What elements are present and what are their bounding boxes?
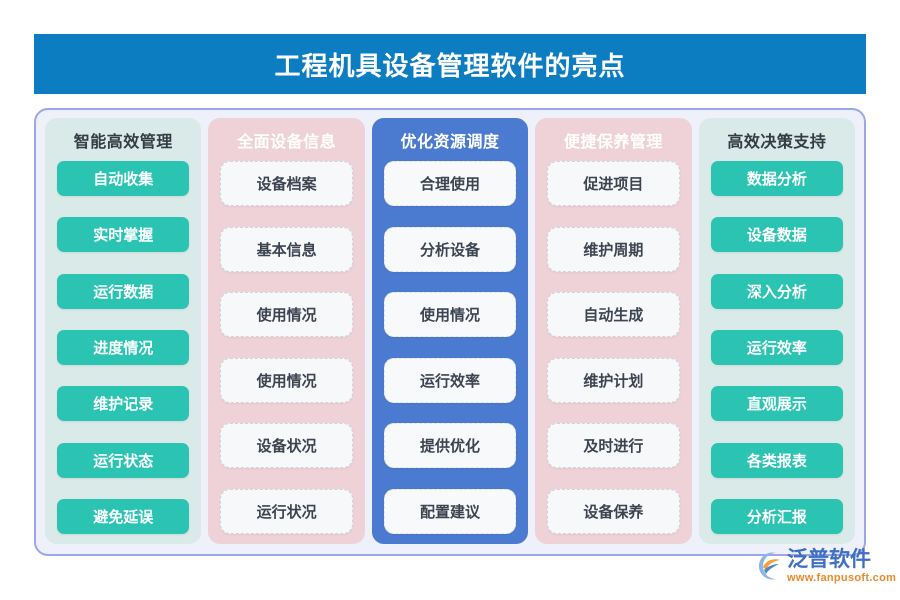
column-header-3: 优化资源调度 — [384, 128, 516, 152]
feature-pill[interactable]: 各类报表 — [711, 443, 843, 478]
column-item-list-1: 自动收集实时掌握运行数据进度情况维护记录运行状态避免延误 — [57, 161, 189, 534]
column-header-1: 智能高效管理 — [57, 128, 189, 152]
feature-pill[interactable]: 提供优化 — [384, 423, 516, 468]
feature-column-3: 优化资源调度合理使用分析设备使用情况运行效率提供优化配置建议 — [372, 118, 528, 544]
feature-pill[interactable]: 直观展示 — [711, 386, 843, 421]
feature-pill[interactable]: 设备保养 — [547, 489, 679, 534]
feature-pill[interactable]: 数据分析 — [711, 161, 843, 196]
column-header-4: 便捷保养管理 — [547, 128, 679, 152]
feature-pill[interactable]: 进度情况 — [57, 330, 189, 365]
fanpu-logo-icon — [752, 549, 786, 583]
column-item-list-2: 设备档案基本信息使用情况使用情况设备状况运行状况 — [220, 161, 352, 534]
feature-column-1: 智能高效管理自动收集实时掌握运行数据进度情况维护记录运行状态避免延误 — [45, 118, 201, 544]
feature-pill[interactable]: 运行效率 — [711, 330, 843, 365]
feature-pill[interactable]: 使用情况 — [220, 358, 352, 403]
feature-pill[interactable]: 运行状况 — [220, 489, 352, 534]
feature-pill[interactable]: 设备数据 — [711, 217, 843, 252]
feature-pill[interactable]: 促进项目 — [547, 161, 679, 206]
feature-pill[interactable]: 使用情况 — [384, 292, 516, 337]
feature-columns-frame: 智能高效管理自动收集实时掌握运行数据进度情况维护记录运行状态避免延误全面设备信息… — [34, 108, 866, 556]
feature-pill[interactable]: 设备档案 — [220, 161, 352, 206]
feature-pill[interactable]: 运行效率 — [384, 358, 516, 403]
feature-pill[interactable]: 自动生成 — [547, 292, 679, 337]
feature-pill[interactable]: 自动收集 — [57, 161, 189, 196]
feature-pill[interactable]: 使用情况 — [220, 292, 352, 337]
feature-pill[interactable]: 维护计划 — [547, 358, 679, 403]
feature-pill[interactable]: 实时掌握 — [57, 217, 189, 252]
feature-pill[interactable]: 运行数据 — [57, 274, 189, 309]
feature-column-2: 全面设备信息设备档案基本信息使用情况使用情况设备状况运行状况 — [208, 118, 364, 544]
feature-column-4: 便捷保养管理促进项目维护周期自动生成维护计划及时进行设备保养 — [535, 118, 691, 544]
brand-logo: 泛普软件 www.fanpusoft.com — [752, 548, 892, 594]
feature-column-5: 高效决策支持数据分析设备数据深入分析运行效率直观展示各类报表分析汇报 — [699, 118, 855, 544]
logo-text-group: 泛普软件 www.fanpusoft.com — [787, 548, 896, 585]
feature-pill[interactable]: 维护记录 — [57, 386, 189, 421]
feature-pill[interactable]: 合理使用 — [384, 161, 516, 206]
column-item-list-4: 促进项目维护周期自动生成维护计划及时进行设备保养 — [547, 161, 679, 534]
column-header-5: 高效决策支持 — [711, 128, 843, 152]
feature-pill[interactable]: 分析设备 — [384, 227, 516, 272]
feature-pill[interactable]: 运行状态 — [57, 443, 189, 478]
feature-pill[interactable]: 配置建议 — [384, 489, 516, 534]
feature-pill[interactable]: 分析汇报 — [711, 499, 843, 534]
column-item-list-3: 合理使用分析设备使用情况运行效率提供优化配置建议 — [384, 161, 516, 534]
column-header-2: 全面设备信息 — [220, 128, 352, 152]
feature-pill[interactable]: 避免延误 — [57, 499, 189, 534]
logo-company-name: 泛普软件 — [787, 548, 896, 572]
page-header-banner: 工程机具设备管理软件的亮点 — [34, 34, 866, 94]
feature-pill[interactable]: 设备状况 — [220, 423, 352, 468]
logo-website-url: www.fanpusoft.com — [787, 572, 896, 585]
feature-pill[interactable]: 深入分析 — [711, 274, 843, 309]
feature-pill[interactable]: 及时进行 — [547, 423, 679, 468]
feature-pill[interactable]: 基本信息 — [220, 227, 352, 272]
column-item-list-5: 数据分析设备数据深入分析运行效率直观展示各类报表分析汇报 — [711, 161, 843, 534]
page-title: 工程机具设备管理软件的亮点 — [274, 46, 625, 83]
feature-pill[interactable]: 维护周期 — [547, 227, 679, 272]
